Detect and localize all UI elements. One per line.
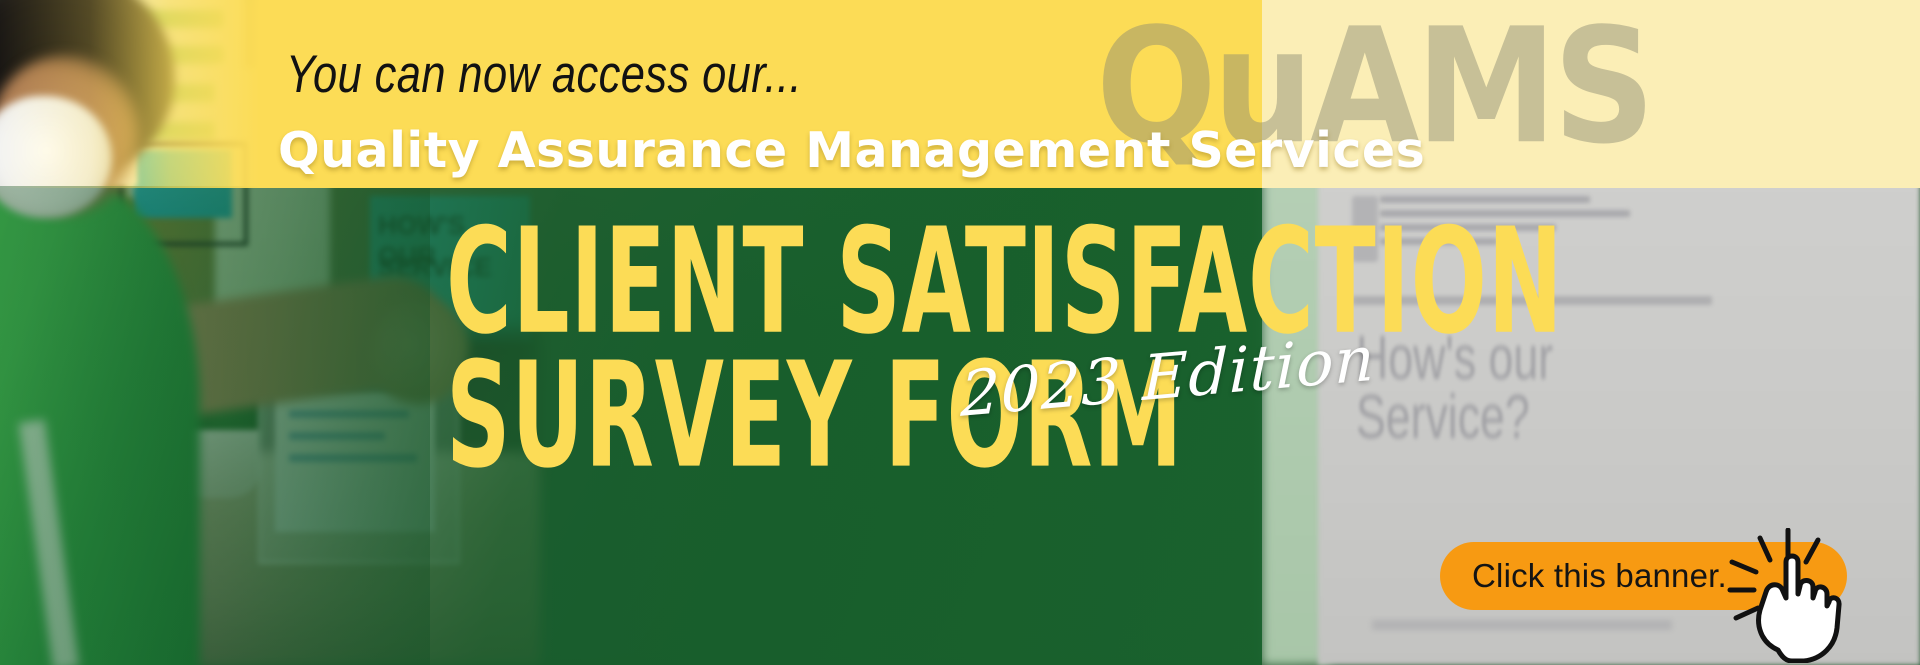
- cta-label: Click this banner.: [1472, 557, 1727, 595]
- photo-right-poster-footer: [1372, 620, 1672, 630]
- client-satisfaction-survey-banner[interactable]: HOW'S OUR SERVICE H: [0, 0, 1920, 665]
- page-title: CLIENT SATISFACTION SURVEY FORM: [446, 216, 1563, 484]
- tagline-text: You can now access our...: [286, 44, 802, 105]
- service-name-text: Quality Assurance Management Services: [278, 122, 1425, 179]
- green-overlay-soft-left: [0, 186, 430, 665]
- hand-pointer-icon: [1726, 528, 1846, 663]
